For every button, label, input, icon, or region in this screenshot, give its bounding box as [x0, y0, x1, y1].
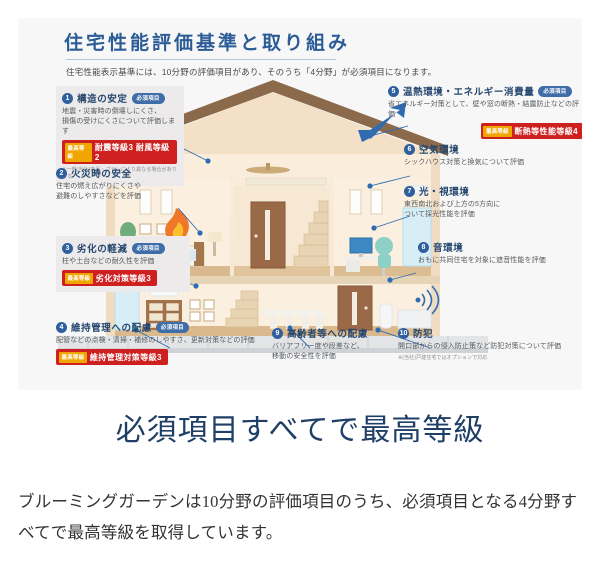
callout-9-description: バリアフリー度や段差など、 移動の安全性を評価	[272, 342, 394, 362]
callout-3-title: 劣化の軽減	[77, 241, 128, 255]
callout-5-grade-top-label: 最高等級	[483, 126, 512, 137]
callout-10-title: 防犯	[413, 326, 433, 340]
callout-10-note: ※(当社)戸建住宅ではオプションで対応	[398, 354, 580, 361]
callout-1-number: 1	[62, 93, 73, 104]
callout-6-header: 6 空気環境	[404, 142, 580, 156]
callout-1-grade-top-label: 最高等級	[65, 143, 93, 162]
callout-item-8: 8 音環境 おもに共同住宅を対象に遮音性能を評価	[418, 240, 582, 266]
callout-item-4: 4 維持管理への配慮 必須項目 配管などの点検・清掃・補修のしやすさ、更新対策な…	[56, 320, 261, 365]
callout-4-grade-top-label: 最高等級	[59, 352, 88, 363]
callout-4-required-badge: 必須項目	[156, 322, 189, 333]
callout-3-grade-badge: 最高等級 劣化対策等級3	[62, 270, 157, 286]
callout-2-title: 火災時の安全	[71, 166, 132, 180]
callout-6-title: 空気環境	[419, 142, 459, 156]
page-headline: 必須項目すべてで最高等級	[0, 405, 600, 449]
callout-9-number: 9	[272, 328, 283, 339]
callout-2-description: 住宅の燃え広がりにくさや 避難のしやすさなどを評価	[56, 182, 186, 202]
callout-3-grade-top-label: 最高等級	[65, 273, 94, 284]
callout-item-10: 10 防犯 開口部からの侵入防止策など防犯対策について評価 ※(当社)戸建住宅で…	[398, 326, 580, 361]
callout-10-description: 開口部からの侵入防止策など防犯対策について評価	[398, 342, 580, 352]
callout-8-title: 音環境	[433, 240, 463, 254]
callout-8-description: おもに共同住宅を対象に遮音性能を評価	[418, 256, 582, 266]
callout-4-number: 4	[56, 322, 67, 333]
callout-2-header: 2 火災時の安全	[56, 166, 186, 180]
callout-5-title: 温熱環境・エネルギー消費量	[403, 84, 534, 98]
callout-7-title: 光・視環境	[419, 184, 470, 198]
callout-1-description: 地震・災害時の倒壊しにくさ、 損傷の受けにくさについて評価します	[62, 107, 177, 137]
callout-9-header: 9 高齢者等への配慮	[272, 326, 394, 340]
callout-3-grade-text: 劣化対策等級3	[95, 273, 156, 284]
callout-item-2: 2 火災時の安全 住宅の燃え広がりにくさや 避難のしやすさなどを評価	[56, 166, 186, 202]
callout-8-header: 8 音環境	[418, 240, 582, 254]
callout-item-9: 9 高齢者等への配慮 バリアフリー度や段差など、 移動の安全性を評価	[272, 326, 394, 362]
callout-4-description: 配管などの点検・清掃・補修のしやすさ、更新対策などの評価	[56, 336, 261, 346]
callout-6-number: 6	[404, 144, 415, 155]
callout-item-5: 5 温熱環境・エネルギー消費量 必須項目 省エネルギー対策として、壁や窓の断熱・…	[388, 84, 582, 139]
callout-item-7: 7 光・視環境 東西南北および上方の5方向に ついて採光性能を評価	[404, 184, 580, 220]
callout-7-number: 7	[404, 186, 415, 197]
callout-4-title: 維持管理への配慮	[71, 320, 152, 334]
callout-5-number: 5	[388, 86, 399, 97]
callout-item-3: 3 劣化の軽減 必須項目 柱や土台などの耐久性を評価 最高等級 劣化対策等級3	[56, 236, 190, 292]
callout-3-description: 柱や土台などの耐久性を評価	[62, 257, 183, 267]
housing-performance-infographic: 住宅性能評価基準と取り組み 住宅性能表示基準には、10分野の評価項目があり、その…	[18, 18, 582, 390]
callout-8-number: 8	[418, 242, 429, 253]
callout-10-number: 10	[398, 328, 409, 339]
callout-7-header: 7 光・視環境	[404, 184, 580, 198]
callout-5-description: 省エネルギー対策として、壁や窓の断熱・結露防止などの評価	[388, 100, 582, 120]
callout-2-number: 2	[56, 168, 67, 179]
callout-1-header: 1 構造の安定 必須項目	[62, 91, 177, 105]
callout-item-6: 6 空気環境 シックハウス対策と換気について評価	[404, 142, 580, 168]
callout-1-required-badge: 必須項目	[132, 93, 165, 104]
callout-10-header: 10 防犯	[398, 326, 580, 340]
callout-3-required-badge: 必須項目	[132, 243, 165, 254]
callout-1-title: 構造の安定	[77, 91, 128, 105]
callout-5-header: 5 温熱環境・エネルギー消費量 必須項目	[388, 84, 582, 98]
callout-1-grade-badge: 最高等級 耐震等級3 耐風等級2	[62, 140, 177, 164]
callout-4-header: 4 維持管理への配慮 必須項目	[56, 320, 261, 334]
callout-3-header: 3 劣化の軽減 必須項目	[62, 241, 183, 255]
callout-4-grade-text: 維持管理対策等級3	[89, 352, 167, 363]
callout-9-title: 高齢者等への配慮	[287, 326, 368, 340]
callout-1-grade-text: 耐震等級3 耐風等級2	[94, 142, 176, 162]
callout-6-description: シックハウス対策と換気について評価	[404, 158, 580, 168]
callout-7-description: 東西南北および上方の5方向に ついて採光性能を評価	[404, 200, 580, 220]
callout-5-grade-badge: 最高等級 断熱等性能等級4	[481, 123, 582, 139]
callout-3-number: 3	[62, 243, 73, 254]
callout-5-grade-text: 断熱等性能等級4	[513, 126, 582, 137]
callout-5-required-badge: 必須項目	[538, 86, 571, 97]
callout-4-grade-badge: 最高等級 維持管理対策等級3	[56, 349, 168, 365]
page-body-copy: ブルーミングガーデンは10分野の評価項目のうち、必須項目となる4分野すべてで最高…	[18, 487, 584, 548]
